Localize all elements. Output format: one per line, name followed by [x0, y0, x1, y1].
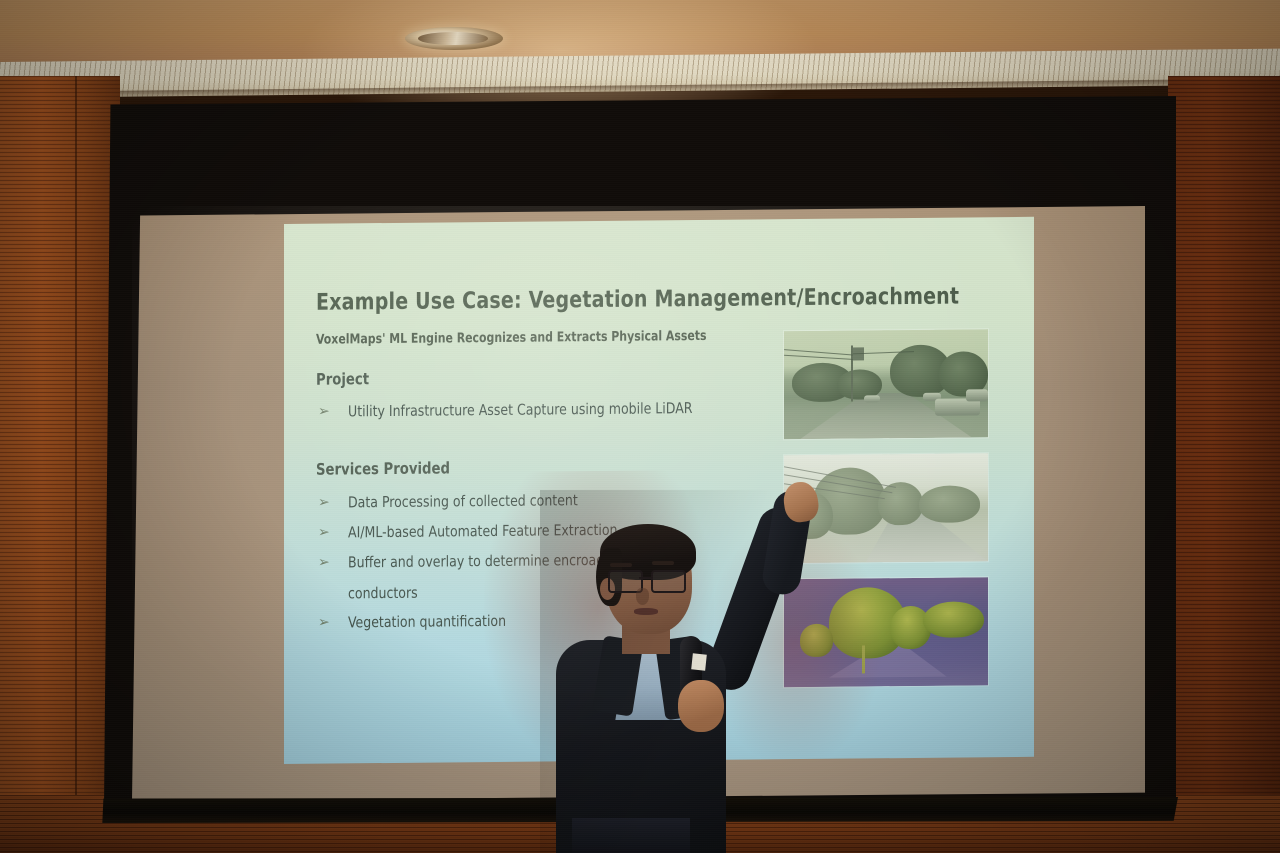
presenter-hand-holding-mic [678, 680, 724, 732]
presentation-photo-scene: Example Use Case: Vegetation Management/… [0, 0, 1280, 853]
list-item-label: Utility Infrastructure Asset Capture usi… [348, 400, 693, 420]
wood-wall-seam [75, 76, 77, 853]
thumbnail-street-photo [784, 329, 988, 439]
wood-wall-right [1168, 76, 1280, 853]
bullet-arrow-icon: ➢ [318, 403, 348, 419]
eyeglasses-icon [608, 570, 686, 590]
list-item: ➢ Vegetation quantification [318, 613, 518, 631]
list-item-label: Data Processing of collected content [348, 492, 578, 511]
thumbnail-point-cloud [784, 577, 988, 687]
section-heading-project: Project [316, 369, 369, 389]
wood-wall-left [0, 76, 120, 853]
slide-subtitle: VoxelMaps' ML Engine Recognizes and Extr… [316, 328, 707, 348]
slide-title: Example Use Case: Vegetation Management/… [316, 284, 959, 316]
bullet-arrow-icon: ➢ [318, 494, 348, 510]
bullet-arrow-icon: ➢ [318, 524, 348, 540]
list-item-label: Vegetation quantification [348, 613, 506, 631]
list-item-label-continued: conductors [348, 584, 418, 603]
point-cloud-image [784, 577, 988, 687]
bullet-arrow-icon: ➢ [318, 614, 348, 630]
presenter-trousers [572, 818, 690, 853]
list-item: ➢ Data Processing of collected content [318, 492, 595, 511]
downlight-reflector [418, 32, 488, 45]
presenter-nose [636, 588, 649, 605]
presenter-eyebrow-right [652, 561, 674, 565]
list-item: ➢ AI/ML-based Automated Feature Extracti… [318, 522, 638, 542]
presenter-eyebrow-left [610, 563, 632, 567]
bullet-arrow-icon: ➢ [318, 554, 348, 570]
street-photo-image [784, 329, 988, 439]
presenter-mouth [634, 608, 658, 615]
list-item: ➢ Utility Infrastructure Asset Capture u… [318, 400, 718, 420]
list-item-label: AI/ML-based Automated Feature Extraction [348, 522, 618, 541]
microphone-label-tag [691, 653, 707, 670]
section-heading-services: Services Provided [316, 458, 450, 478]
